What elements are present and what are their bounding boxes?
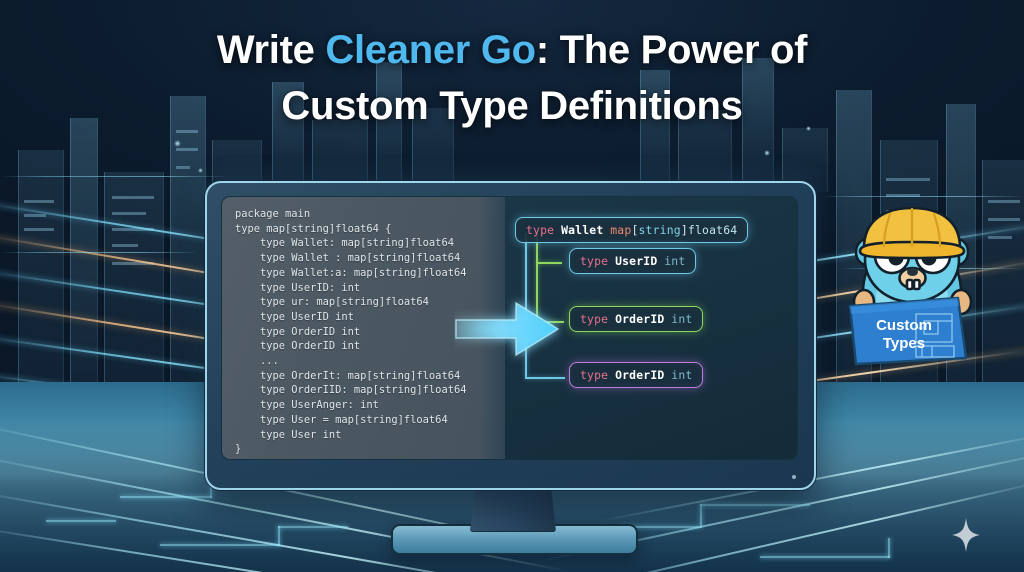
keyword-type: type xyxy=(580,254,608,268)
title-text-a: Write xyxy=(217,28,326,72)
keyword-string: string xyxy=(639,223,681,237)
blueprint-line2: Types xyxy=(883,335,925,352)
type-name-wallet: Wallet xyxy=(561,223,603,237)
value-type-int: int xyxy=(671,312,692,326)
connector-cyan-to-orderid-purple xyxy=(525,377,565,379)
power-led xyxy=(792,475,796,479)
bracket-open: [ xyxy=(631,223,638,237)
keyword-type: type xyxy=(526,223,554,237)
type-diagram-pane: typeWalletmap[string]float64 typeUserIDi… xyxy=(505,197,797,459)
type-name-orderid: OrderID xyxy=(615,312,664,326)
type-box-wallet[interactable]: typeWalletmap[string]float64 xyxy=(515,217,748,243)
title-line1: Write Cleaner Go: The Power of xyxy=(217,28,807,72)
go-gopher-mascot: Custom Types xyxy=(838,206,990,378)
connector-green-trunk xyxy=(536,233,538,323)
type-name-userid: UserID xyxy=(615,254,657,268)
title-text-b: : The Power of xyxy=(536,28,807,72)
value-type-int: int xyxy=(671,368,692,382)
type-box-orderid-purple[interactable]: typeOrderIDint xyxy=(569,362,703,388)
blueprint-line1: Custom xyxy=(876,317,932,334)
keyword-map: map xyxy=(610,223,631,237)
poster-canvas: Write Cleaner Go: The Power of Custom Ty… xyxy=(0,0,1024,572)
type-name-orderid: OrderID xyxy=(615,368,664,382)
connector-green-to-userid xyxy=(536,262,562,264)
bracket-close: ] xyxy=(681,223,688,237)
connector-green-to-orderid xyxy=(536,321,564,323)
go-source-code: package main type map[string]float64 { t… xyxy=(235,207,466,457)
value-type-float64: float64 xyxy=(688,223,737,237)
code-pane: package main type map[string]float64 { t… xyxy=(222,197,505,459)
monitor-screen: package main type map[string]float64 { t… xyxy=(221,196,798,460)
keyword-type: type xyxy=(580,312,608,326)
monitor-stand-neck xyxy=(470,484,556,532)
title-accent-cleaner-go: Cleaner Go xyxy=(325,28,535,72)
keyword-type: type xyxy=(580,368,608,382)
type-box-orderid-green[interactable]: typeOrderIDint xyxy=(569,306,703,332)
connector-cyan-trunk xyxy=(525,233,527,377)
type-box-userid[interactable]: typeUserIDint xyxy=(569,248,696,274)
monitor: package main type map[string]float64 { t… xyxy=(205,181,816,490)
poster-title: Write Cleaner Go: The Power of Custom Ty… xyxy=(0,22,1024,134)
value-type-int: int xyxy=(664,254,685,268)
sparkle-icon xyxy=(952,518,980,552)
title-line2: Custom Type Definitions xyxy=(0,78,1024,134)
